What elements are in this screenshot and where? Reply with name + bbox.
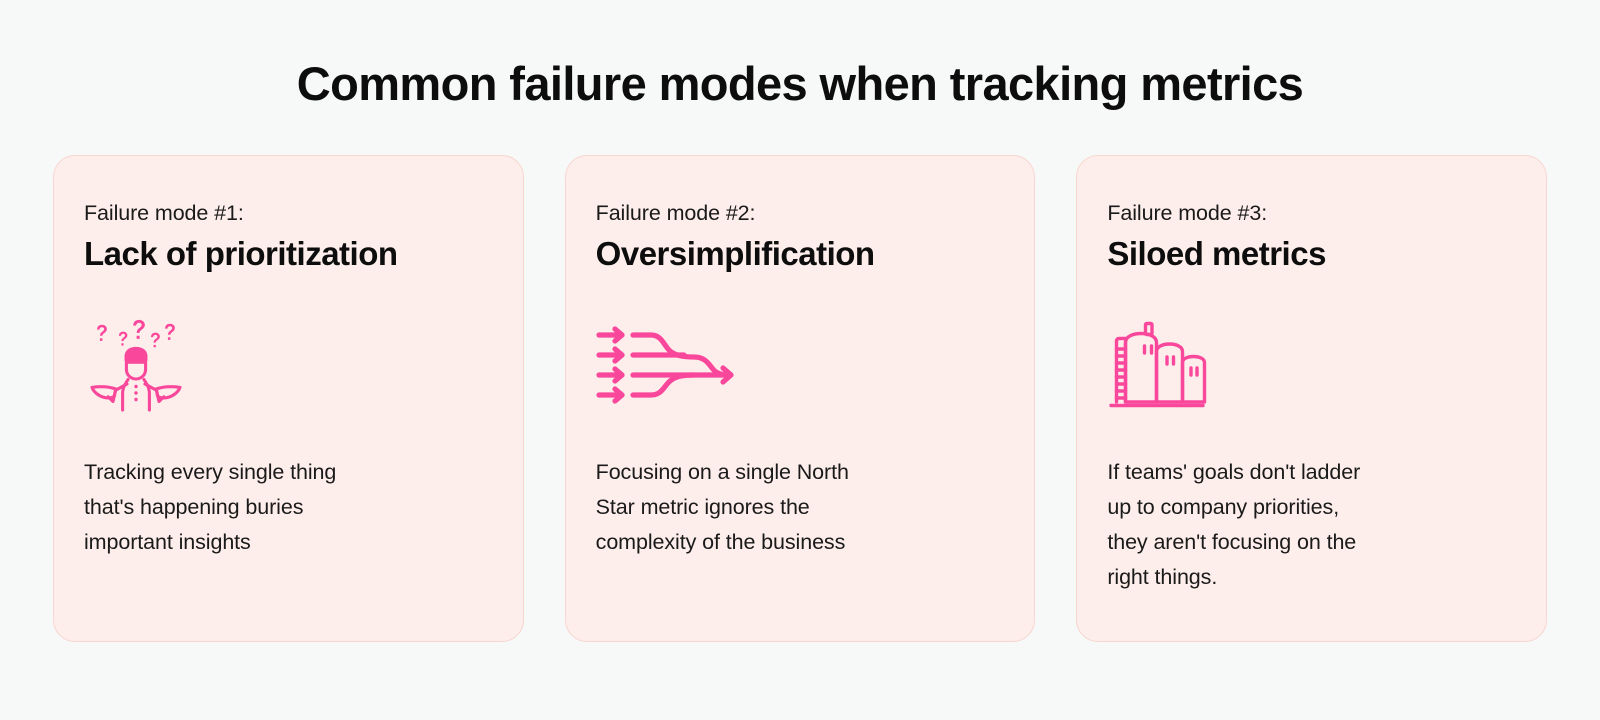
failure-mode-card-1: Failure mode #1: Lack of prioritization xyxy=(53,155,524,642)
card-icon-wrap xyxy=(1107,317,1516,413)
card-body-line: Star metric ignores the xyxy=(596,490,926,525)
confused-shrugging-person-icon xyxy=(84,318,188,412)
card-icon-wrap xyxy=(596,317,1005,413)
card-title: Lack of prioritization xyxy=(84,234,493,274)
card-body-line: that's happening buries xyxy=(84,490,414,525)
card-eyebrow: Failure mode #2: xyxy=(596,200,1005,227)
failure-mode-card-row: Failure mode #1: Lack of prioritization xyxy=(0,155,1600,642)
card-body-line: up to company priorities, xyxy=(1107,490,1437,525)
card-body-line: Tracking every single thing xyxy=(84,455,414,490)
card-title: Oversimplification xyxy=(596,234,1005,274)
card-icon-wrap xyxy=(84,317,493,413)
card-body-line: they aren't focusing on the xyxy=(1107,525,1437,560)
grain-silos-icon xyxy=(1107,320,1207,410)
page-title: Common failure modes when tracking metri… xyxy=(0,0,1600,110)
card-title: Siloed metrics xyxy=(1107,234,1516,274)
card-body: Focusing on a single North Star metric i… xyxy=(596,455,926,559)
card-body-line: Focusing on a single North xyxy=(596,455,926,490)
page-root: Common failure modes when tracking metri… xyxy=(0,0,1600,720)
card-eyebrow: Failure mode #3: xyxy=(1107,200,1516,227)
failure-mode-card-3: Failure mode #3: Siloed metrics xyxy=(1076,155,1547,642)
card-body-line: important insights xyxy=(84,525,414,560)
card-eyebrow: Failure mode #1: xyxy=(84,200,493,227)
converging-arrows-icon xyxy=(596,326,742,404)
failure-mode-card-2: Failure mode #2: Oversimplification xyxy=(565,155,1036,642)
card-body-line: complexity of the business xyxy=(596,525,926,560)
card-body: Tracking every single thing that's happe… xyxy=(84,455,414,559)
card-body: If teams' goals don't ladder up to compa… xyxy=(1107,455,1437,594)
card-body-line: If teams' goals don't ladder xyxy=(1107,455,1437,490)
card-body-line: right things. xyxy=(1107,560,1437,595)
